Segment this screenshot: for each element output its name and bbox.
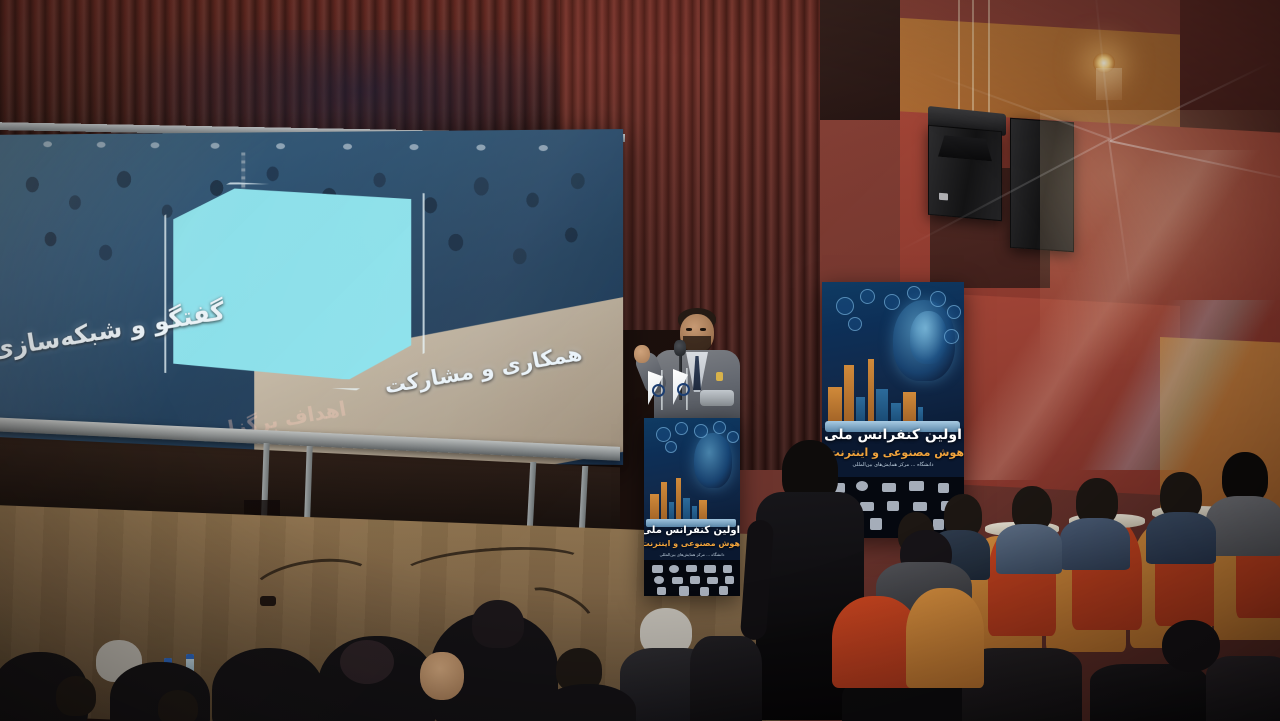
audience-face <box>420 652 464 700</box>
audience-torso <box>996 524 1062 574</box>
audience-torso <box>1206 656 1280 721</box>
banner-large-meta: دانشگاه ... مرکز همایش‌های بین‌المللی <box>822 462 964 468</box>
speaker-suspension-wire <box>972 0 974 128</box>
presenter-lapel-pin <box>716 372 723 381</box>
lamp-fixture <box>1096 68 1122 100</box>
banner-city-skyline <box>826 358 923 428</box>
audience-torso <box>1206 496 1280 556</box>
audience-head <box>158 690 198 721</box>
floor-socket <box>244 500 280 516</box>
speaker-suspension-wire <box>988 0 990 124</box>
microphone-head <box>674 340 686 356</box>
audience-hijab <box>212 648 324 721</box>
cable-connector <box>260 596 276 606</box>
banner-artwork <box>644 418 740 525</box>
banner-city-skyline <box>648 476 711 525</box>
projection-screen: اهداف برگزاری گفتگو و شبکه‌سازی همکاری و… <box>0 129 623 465</box>
banner-small-subtitle: هوش مصنوعی و اینترنت اشیا <box>644 539 740 548</box>
banner-small-title: اولین کنفرانس ملی <box>644 525 740 536</box>
audience-torso <box>1090 664 1208 721</box>
banner-small-meta: دانشگاه ... مرکز همایش‌های بین‌المللی <box>644 552 740 557</box>
banner-small-podium: اولین کنفرانس ملی هوش مصنوعی و اینترنت ا… <box>644 418 740 596</box>
conference-hall-photo: اهداف برگزاری گفتگو و شبکه‌سازی همکاری و… <box>0 0 1280 721</box>
banner-face-highlight <box>910 311 947 364</box>
screen-glare <box>0 129 623 465</box>
banner-small-sponsor-logos <box>644 560 740 596</box>
audience-torso <box>1060 518 1130 570</box>
audience-head <box>340 640 394 684</box>
audience-head <box>472 600 524 648</box>
podium-flowers <box>700 390 734 406</box>
banner-large-title: اولین کنفرانس ملی <box>822 427 964 443</box>
flag-emblem <box>677 383 690 396</box>
presenter-hand <box>634 345 650 363</box>
seat-foreground-orange <box>906 588 984 688</box>
audience-head <box>56 676 96 716</box>
banner-artwork <box>822 282 964 428</box>
audience-torso <box>690 636 762 721</box>
banner-large-subtitle: هوش مصنوعی و اینترنت اشیا <box>822 446 964 459</box>
audience-torso <box>1146 512 1216 564</box>
flag-emblem <box>652 384 665 397</box>
audience-head <box>1162 620 1220 672</box>
